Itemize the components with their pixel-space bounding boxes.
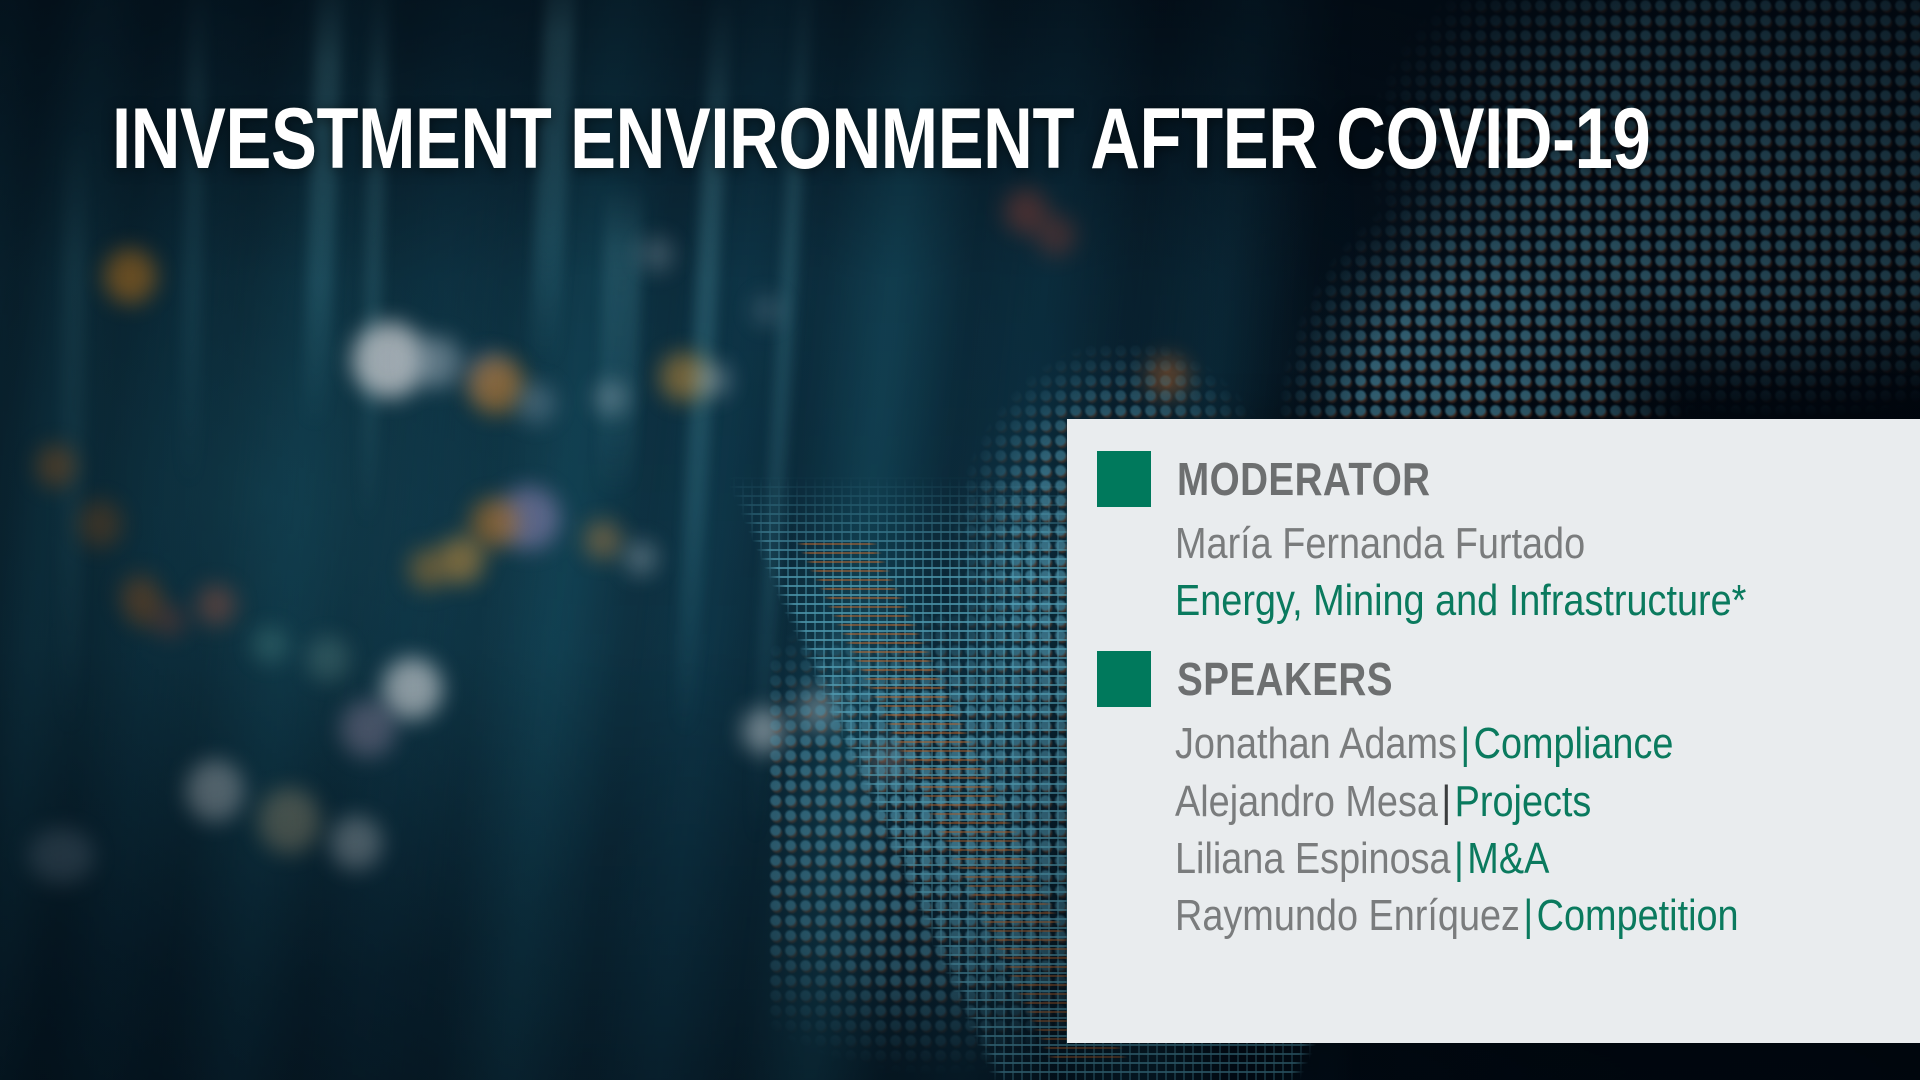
speaker-separator: | [1457,719,1474,768]
speaker-separator: | [1520,891,1537,940]
speaker-separator: | [1438,777,1455,826]
list-item: Raymundo Enríquez|Competition [1175,887,1816,944]
speakers-section-header: SPEAKERS [1097,647,1920,711]
list-item: Jonathan Adams|Compliance [1175,715,1816,772]
moderator-name: María Fernanda Furtado [1175,515,1816,572]
speaker-name: Jonathan Adams [1175,719,1457,768]
speaker-name: Raymundo Enríquez [1175,891,1520,940]
speaker-name: Alejandro Mesa [1175,777,1438,826]
slide-title: INVESTMENT ENVIRONMENT AFTER COVID-19 [112,96,1650,182]
speaker-practice: Compliance [1474,719,1674,768]
moderator-section-header: MODERATOR [1097,447,1920,511]
speaker-practice: Projects [1455,777,1592,826]
moderator-details: María Fernanda Furtado Energy, Mining an… [1097,515,1920,629]
moderator-practice: Energy, Mining and Infrastructure* [1175,572,1816,629]
green-square-icon [1097,451,1151,507]
list-item: Alejandro Mesa|Projects [1175,773,1816,830]
speakers-heading: SPEAKERS [1177,656,1393,702]
speaker-practice: Competition [1537,891,1739,940]
moderator-heading: MODERATOR [1177,456,1431,502]
speaker-practice: M&A [1467,834,1549,883]
speakers-panel: MODERATOR María Fernanda Furtado Energy,… [1067,419,1920,1043]
speakers-list: Jonathan Adams|Compliance Alejandro Mesa… [1097,715,1920,944]
list-item: Liliana Espinosa|M&A [1175,830,1816,887]
presentation-slide: INVESTMENT ENVIRONMENT AFTER COVID-19 MO… [0,0,1920,1080]
speaker-separator: | [1451,834,1468,883]
green-square-icon [1097,651,1151,707]
speaker-name: Liliana Espinosa [1175,834,1451,883]
